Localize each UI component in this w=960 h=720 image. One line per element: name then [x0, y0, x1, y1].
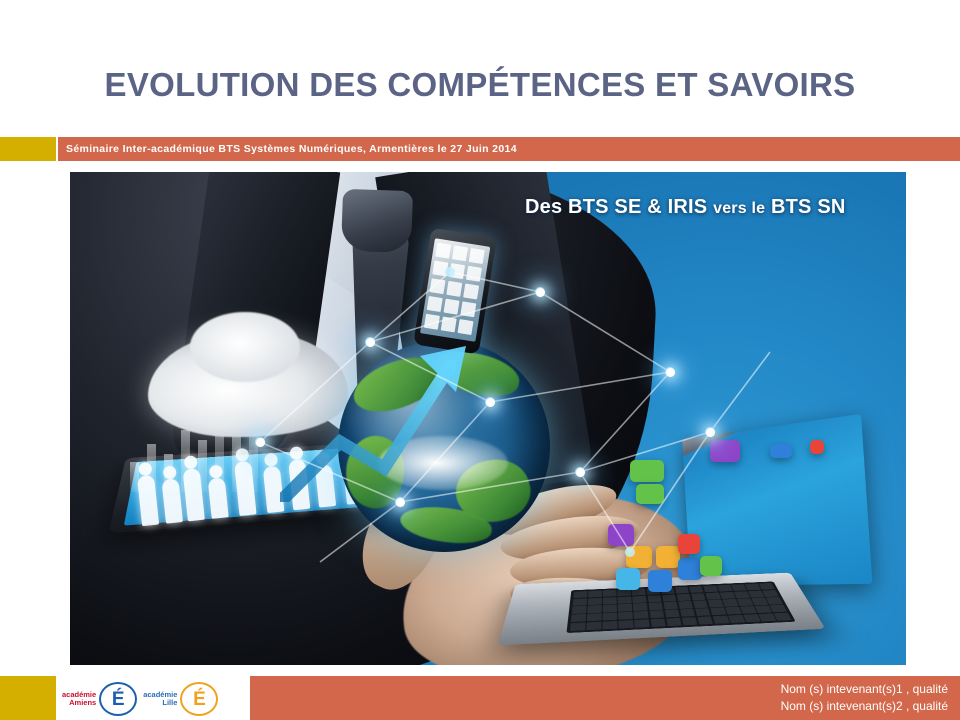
caption-middle: vers le [713, 200, 765, 217]
caption-lead: Des BTS SE & IRIS [525, 196, 707, 218]
academie-amiens-glyph: É [99, 682, 137, 716]
network-node [256, 438, 265, 447]
academie-amiens-logo: académie Amiens É [62, 682, 137, 716]
academie-amiens-label: académie Amiens [62, 691, 96, 708]
network-node [366, 338, 375, 347]
slide-canvas: EVOLUTION DES COMPÉTENCES ET SAVOIRS Sém… [0, 0, 960, 720]
network-links [70, 172, 906, 665]
footer-accent-block [0, 676, 56, 720]
subtitle-text: Séminaire Inter-académique BTS Systèmes … [66, 137, 517, 161]
network-node [706, 428, 715, 437]
network-node [666, 368, 675, 377]
image-caption: Des BTS SE & IRIS vers le BTS SN [525, 196, 846, 219]
subtitle-accent-block [0, 137, 56, 161]
logo-group: académie Amiens É académie Lille É [62, 678, 242, 720]
presenter-line-1: Nom (s) intevenant(s)1 , qualité [781, 681, 948, 698]
hero-image: Des BTS SE & IRIS vers le BTS SN [70, 172, 906, 665]
academie-lille-logo: académie Lille É [143, 682, 218, 716]
presenter-line-2: Nom (s) intevenant(s)2 , qualité [781, 698, 948, 715]
caption-tail: BTS SN [771, 196, 846, 218]
network-node [576, 468, 585, 477]
presenter-names: Nom (s) intevenant(s)1 , qualité Nom (s)… [781, 676, 948, 720]
page-title: EVOLUTION DES COMPÉTENCES ET SAVOIRS [0, 66, 960, 104]
academie-lille-label: académie Lille [143, 691, 177, 708]
network-node [396, 498, 405, 507]
subtitle-bar: Séminaire Inter-académique BTS Systèmes … [58, 137, 960, 161]
network-node [486, 398, 495, 407]
network-node [536, 288, 545, 297]
academie-lille-glyph: É [180, 682, 218, 716]
